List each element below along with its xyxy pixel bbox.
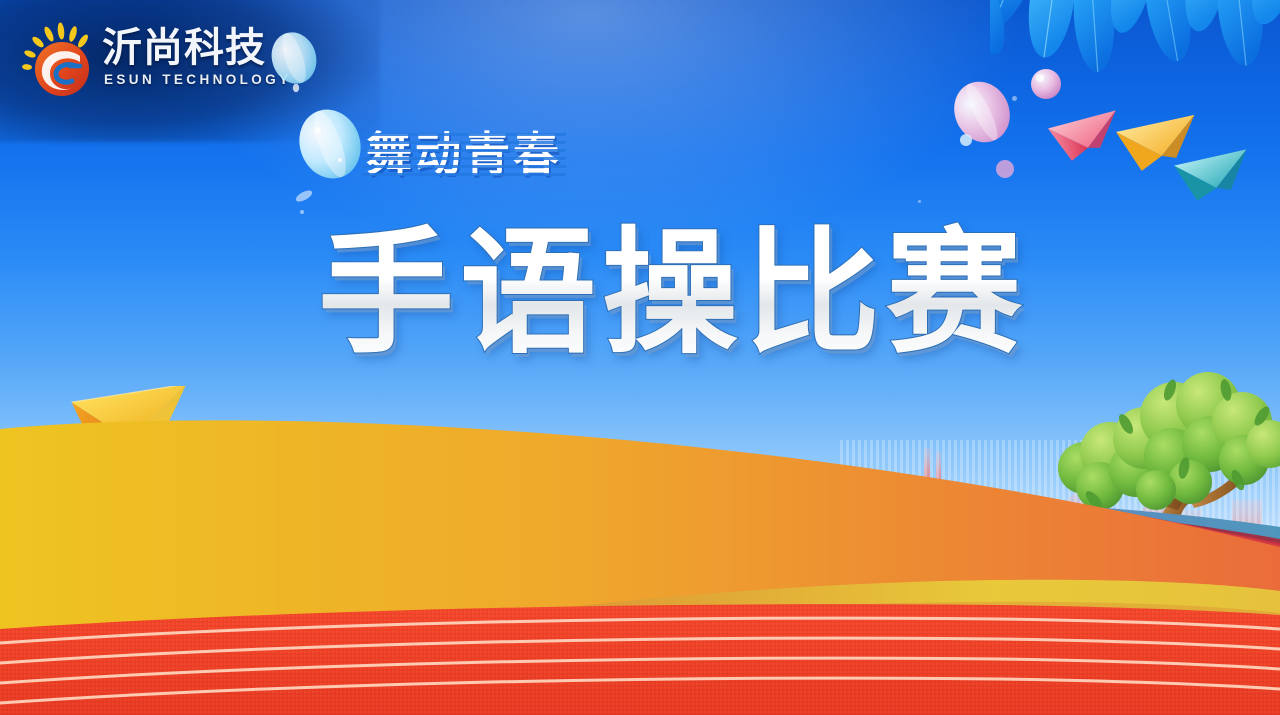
sparkle-dot <box>1012 96 1017 101</box>
logo-bubble-icon <box>266 28 326 98</box>
pink-balloon-small-icon <box>1028 66 1064 102</box>
paper-plane-teal-icon <box>1172 146 1258 208</box>
sparkle-dot <box>300 210 304 214</box>
poster-canvas: 沂尚科技 ESUN TECHNOLOGY <box>0 0 1280 715</box>
poster-title-outline: 手语操比赛 <box>318 218 998 368</box>
poster-subtitle: 舞动青春 <box>366 126 562 182</box>
brand-name-en: ESUN TECHNOLOGY <box>104 72 292 87</box>
brand-name-cn: 沂尚科技 <box>102 26 266 70</box>
esun-swirl-icon <box>18 22 102 102</box>
poster-subtitle-text: 舞动青春 <box>366 128 562 180</box>
white-bubble-tiny-icon <box>958 132 974 148</box>
pink-bubble-tiny-icon <box>994 158 1016 180</box>
ribbon-waves-ground <box>0 415 1280 715</box>
sparkle-dot <box>918 200 921 203</box>
brand-logo: 沂尚科技 ESUN TECHNOLOGY <box>18 22 318 104</box>
poster-title: 手语操比赛 手语操比赛 <box>318 218 998 368</box>
glass-bubble-icon <box>286 104 372 214</box>
